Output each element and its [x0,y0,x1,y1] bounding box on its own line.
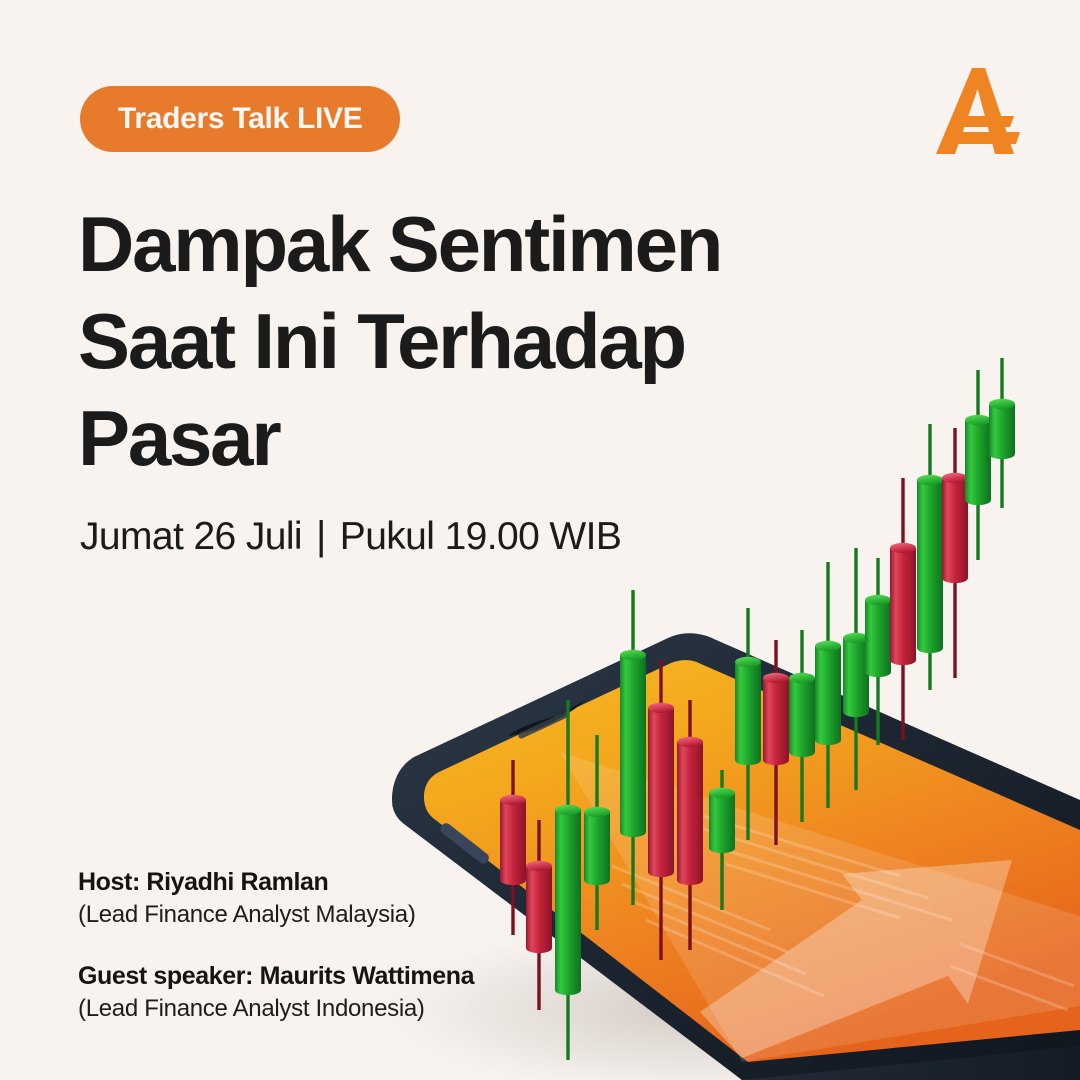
page-title: Dampak Sentimen Saat Ini Terhadap Pasar [78,196,818,487]
headline-line-2: Saat Ini Terhadap [78,293,818,390]
candlestick-18 [965,370,991,560]
candlestick-11 [789,630,815,822]
candlestick-16 [917,424,943,690]
candlestick-10 [763,640,789,845]
candlestick-5 [620,590,646,905]
guest-name: Guest speaker: Maurits Wattimena [78,960,548,992]
candlestick-9 [735,608,761,840]
host-role: (Lead Finance Analyst Malaysia) [78,898,548,932]
candlestick-7 [677,700,703,950]
host-credit: Host: Riyadhi Ramlan (Lead Finance Analy… [78,866,548,932]
schedule-line: Jumat 26 Juli | Pukul 19.00 WIB [80,514,621,559]
live-badge-label: Traders Talk LIVE [118,102,362,136]
candlestick-14 [865,558,891,745]
headline-line-1: Dampak Sentimen [78,196,818,293]
guest-credit: Guest speaker: Maurits Wattimena (Lead F… [78,960,548,1026]
guest-role: (Lead Finance Analyst Indonesia) [78,992,548,1026]
schedule-date: Jumat 26 Juli [80,515,302,559]
host-name: Host: Riyadhi Ramlan [78,866,548,898]
schedule-time: Pukul 19.00 WIB [340,515,621,559]
candlestick-4 [584,735,610,930]
brand-logo [928,58,1032,168]
headline-line-3: Pasar [78,390,818,487]
credits-block: Host: Riyadhi Ramlan (Lead Finance Analy… [78,866,548,1026]
candlestick-12 [815,562,841,808]
candlestick-13 [843,548,869,790]
candlestick-19 [989,358,1015,508]
live-badge: Traders Talk LIVE [80,86,400,152]
promo-poster: Traders Talk LIVE Dampak Sentimen Saat I… [0,0,1080,1080]
candlestick-15 [890,478,916,740]
candlestick-17 [942,428,968,678]
candlestick-8 [709,770,735,910]
octa-a-monogram-icon [928,58,1032,168]
schedule-separator: | [316,514,326,559]
candlestick-3 [555,700,581,1060]
candlestick-6 [648,660,674,960]
